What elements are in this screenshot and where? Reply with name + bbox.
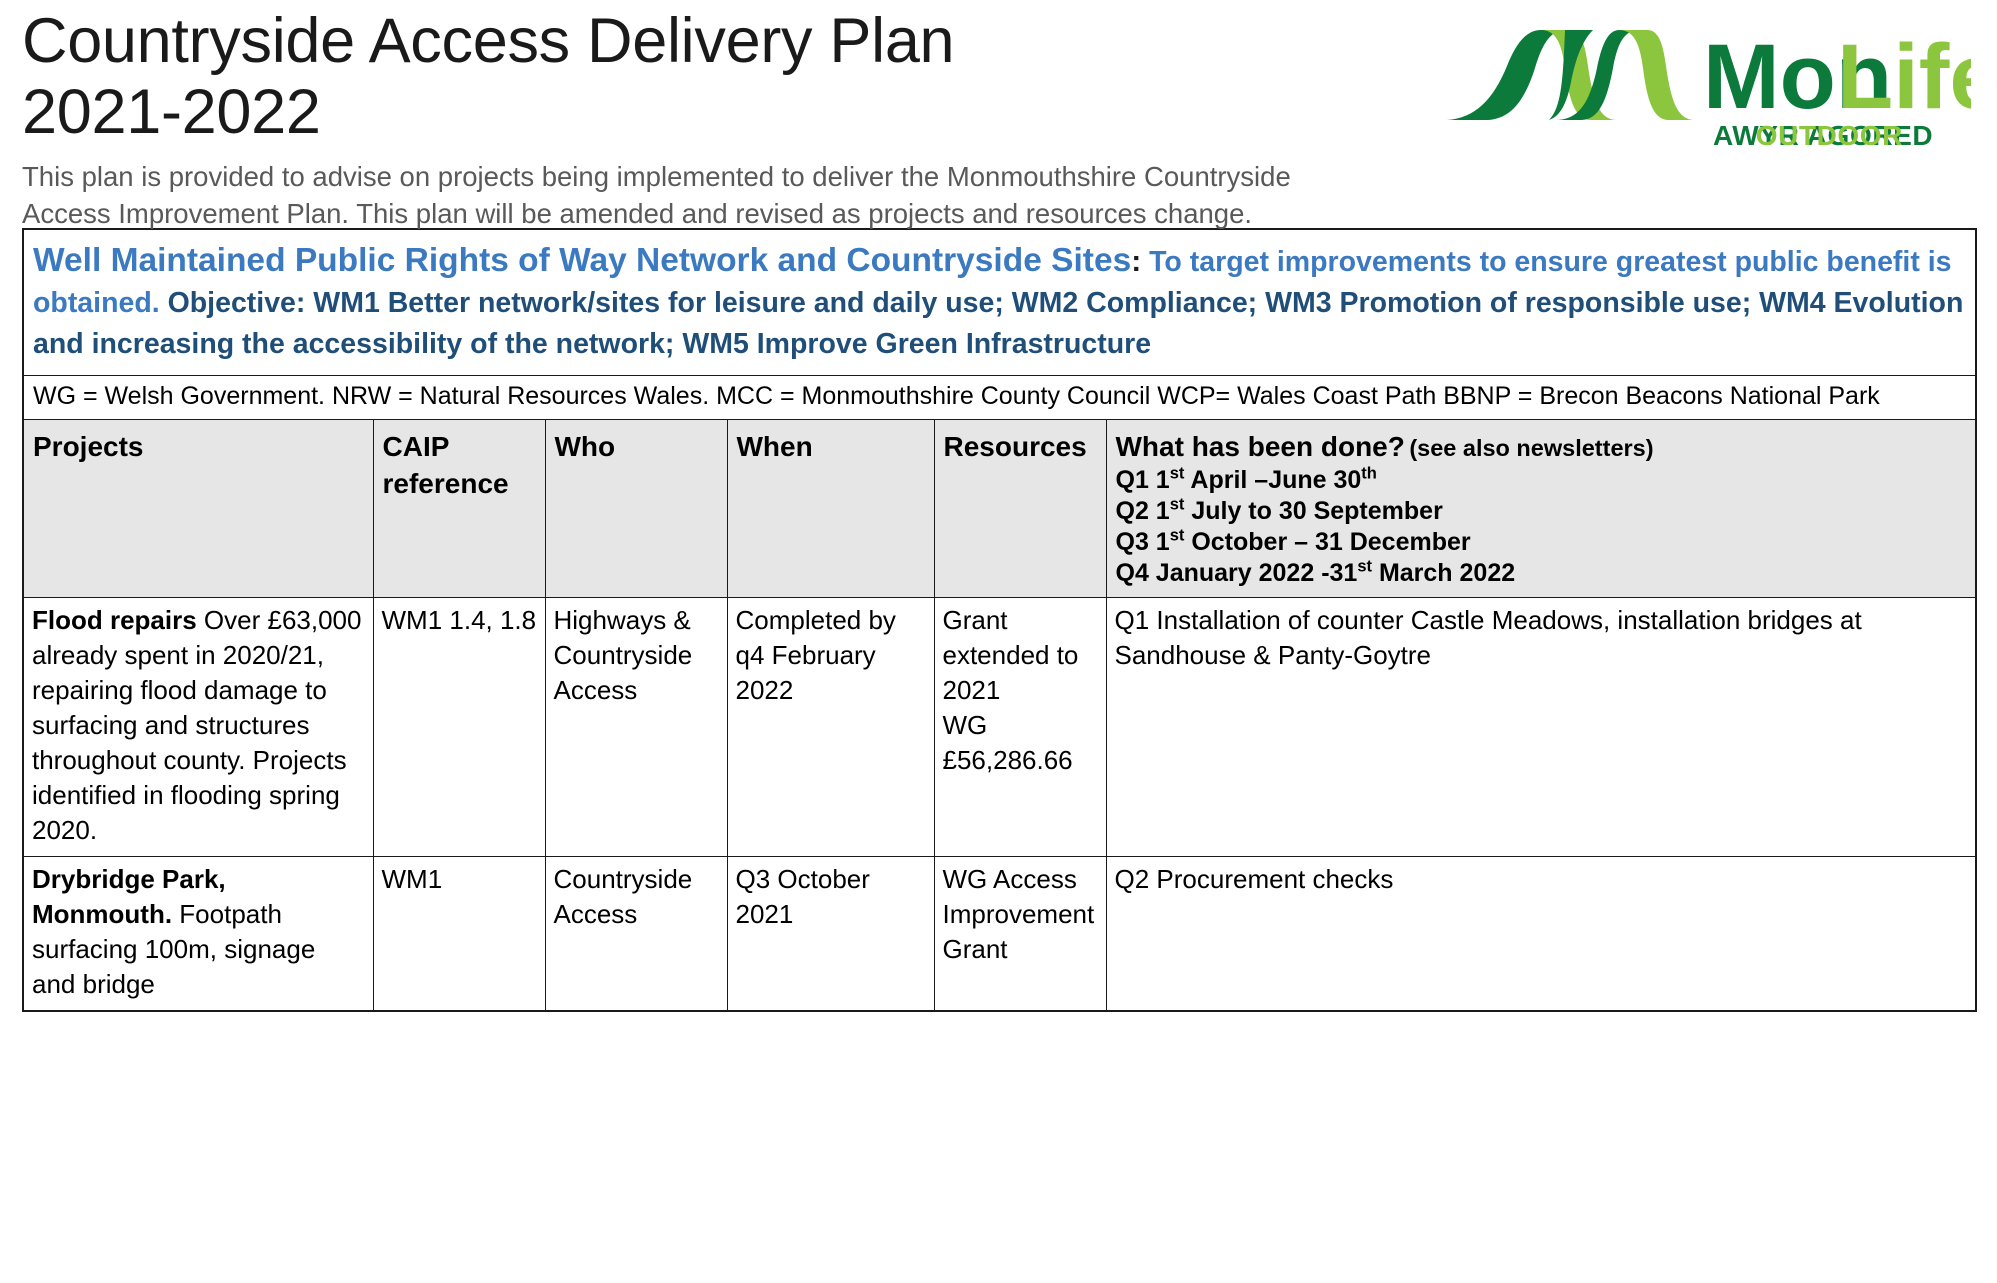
quarter-definition-q2: Q2 1st July to 30 September <box>1116 496 1968 527</box>
quarter-definition-q1: Q1 1st April –June 30th <box>1116 465 1968 496</box>
who-value: Highways & Countryside Access <box>554 603 719 708</box>
cell-resources: Grant extended to 2021 WG £56,286.66 <box>934 598 1106 857</box>
caip-reference-value: WM1 1.4, 1.8 <box>382 603 537 638</box>
column-header-who: Who <box>545 420 727 598</box>
resources-value: Grant extended to 2021 <box>943 603 1098 708</box>
abbreviations-cell: WG = Welsh Government. NRW = Natural Res… <box>23 376 1976 420</box>
title-block: Countryside Access Delivery Plan 2021-20… <box>22 6 1292 232</box>
banner-text: Well Maintained Public Rights of Way Net… <box>33 240 1967 365</box>
q2-sup1: st <box>1170 496 1185 514</box>
column-header-resources: Resources <box>934 420 1106 598</box>
page-title-line-2: 2021-2022 <box>22 77 1292 148</box>
project-description: Drybridge Park, Monmouth. Footpath surfa… <box>32 862 365 1002</box>
table-row: Flood repairs Over £63,000 already spent… <box>23 598 1976 857</box>
q4-sup1: st <box>1357 558 1372 576</box>
q4-mid: March 2022 <box>1372 559 1515 587</box>
document-header: Countryside Access Delivery Plan 2021-20… <box>22 0 1975 228</box>
monlife-logo: Mon Life AWYR AGORED OUTDOOR <box>1441 4 1971 152</box>
done-value: Q1 Installation of counter Castle Meadow… <box>1115 603 1968 673</box>
abbreviations-text: WG = Welsh Government. NRW = Natural Res… <box>33 380 1967 413</box>
cell-who: Highways & Countryside Access <box>545 598 727 857</box>
cell-who: Countryside Access <box>545 857 727 1012</box>
column-header-when-label: When <box>737 428 926 465</box>
banner-heading: Well Maintained Public Rights of Way Net… <box>33 242 1131 279</box>
cell-when: Completed by q4 February 2022 <box>727 598 934 857</box>
column-header-who-label: Who <box>555 428 719 465</box>
table-banner-row: Well Maintained Public Rights of Way Net… <box>23 229 1976 376</box>
column-header-done-note: (see also newsletters) <box>1409 435 1653 461</box>
column-header-projects: Projects <box>23 420 373 598</box>
quarter-definition-q3: Q3 1st October – 31 December <box>1116 527 1968 558</box>
column-header-caip-line2: reference <box>383 465 537 502</box>
resources-amount: £56,286.66 <box>943 743 1098 778</box>
resources-funder: WG <box>943 708 1098 743</box>
cell-what-has-been-done: Q2 Procurement checks <box>1106 857 1976 1012</box>
q3-prefix: Q3 1 <box>1116 528 1170 556</box>
cell-projects: Drybridge Park, Monmouth. Footpath surfa… <box>23 857 373 1012</box>
project-name: Flood repairs <box>32 605 197 635</box>
cell-resources: WG Access Improvement Grant <box>934 857 1106 1012</box>
when-value: Completed by q4 February 2022 <box>736 603 926 708</box>
column-header-done-label: What has been done? <box>1116 431 1405 462</box>
project-detail: Over £63,000 already spent in 2020/21, r… <box>32 605 361 845</box>
q1-mid: April –June 30 <box>1184 466 1361 494</box>
when-value: Q3 October 2021 <box>736 862 926 932</box>
resources-value: WG Access Improvement Grant <box>943 862 1098 967</box>
logo-word-life: Life <box>1837 26 1971 128</box>
column-header-caip-line1: CAIP <box>383 428 537 465</box>
page-subtitle: This plan is provided to advise on proje… <box>22 158 1292 232</box>
q3-mid: October – 31 December <box>1184 528 1470 556</box>
column-header-resources-label: Resources <box>944 428 1098 465</box>
column-header-when: When <box>727 420 934 598</box>
column-header-projects-label: Projects <box>33 428 365 465</box>
document-page: Countryside Access Delivery Plan 2021-20… <box>0 0 1997 1283</box>
q2-prefix: Q2 1 <box>1116 497 1170 525</box>
banner-objectives: Objective: WM1 Better network/sites for … <box>33 287 1963 360</box>
q1-prefix: Q1 1 <box>1116 466 1170 494</box>
logo-tagline-english: OUTDOOR <box>1756 120 1903 151</box>
cell-caip-reference: WM1 1.4, 1.8 <box>373 598 545 857</box>
banner-cell: Well Maintained Public Rights of Way Net… <box>23 229 1976 376</box>
q4-prefix: Q4 January 2022 -31 <box>1116 559 1358 587</box>
project-description: Flood repairs Over £63,000 already spent… <box>32 603 365 848</box>
table-row: Drybridge Park, Monmouth. Footpath surfa… <box>23 857 1976 1012</box>
done-value: Q2 Procurement checks <box>1115 862 1968 897</box>
q1-sup1: st <box>1170 465 1185 483</box>
q2-mid: July to 30 September <box>1184 497 1442 525</box>
cell-projects: Flood repairs Over £63,000 already spent… <box>23 598 373 857</box>
q3-sup1: st <box>1170 527 1185 545</box>
q1-sup2: th <box>1361 465 1377 483</box>
cell-when: Q3 October 2021 <box>727 857 934 1012</box>
column-header-what-has-been-done: What has been done? (see also newsletter… <box>1106 420 1976 598</box>
caip-reference-value: WM1 <box>382 862 537 897</box>
banner-colon: : <box>1131 245 1141 278</box>
page-title-line-1: Countryside Access Delivery Plan <box>22 6 1292 77</box>
quarter-definition-q4: Q4 January 2022 -31st March 2022 <box>1116 558 1968 589</box>
table-header-row: Projects CAIP reference Who When Resourc… <box>23 420 1976 598</box>
column-header-caip-reference: CAIP reference <box>373 420 545 598</box>
cell-what-has-been-done: Q1 Installation of counter Castle Meadow… <box>1106 598 1976 857</box>
table-abbreviations-row: WG = Welsh Government. NRW = Natural Res… <box>23 376 1976 420</box>
monlife-ribbon-mark <box>1447 30 1695 120</box>
column-header-done-title-wrap: What has been done? (see also newsletter… <box>1116 428 1968 465</box>
who-value: Countryside Access <box>554 862 719 932</box>
cell-caip-reference: WM1 <box>373 857 545 1012</box>
delivery-plan-table: Well Maintained Public Rights of Way Net… <box>22 228 1977 1012</box>
